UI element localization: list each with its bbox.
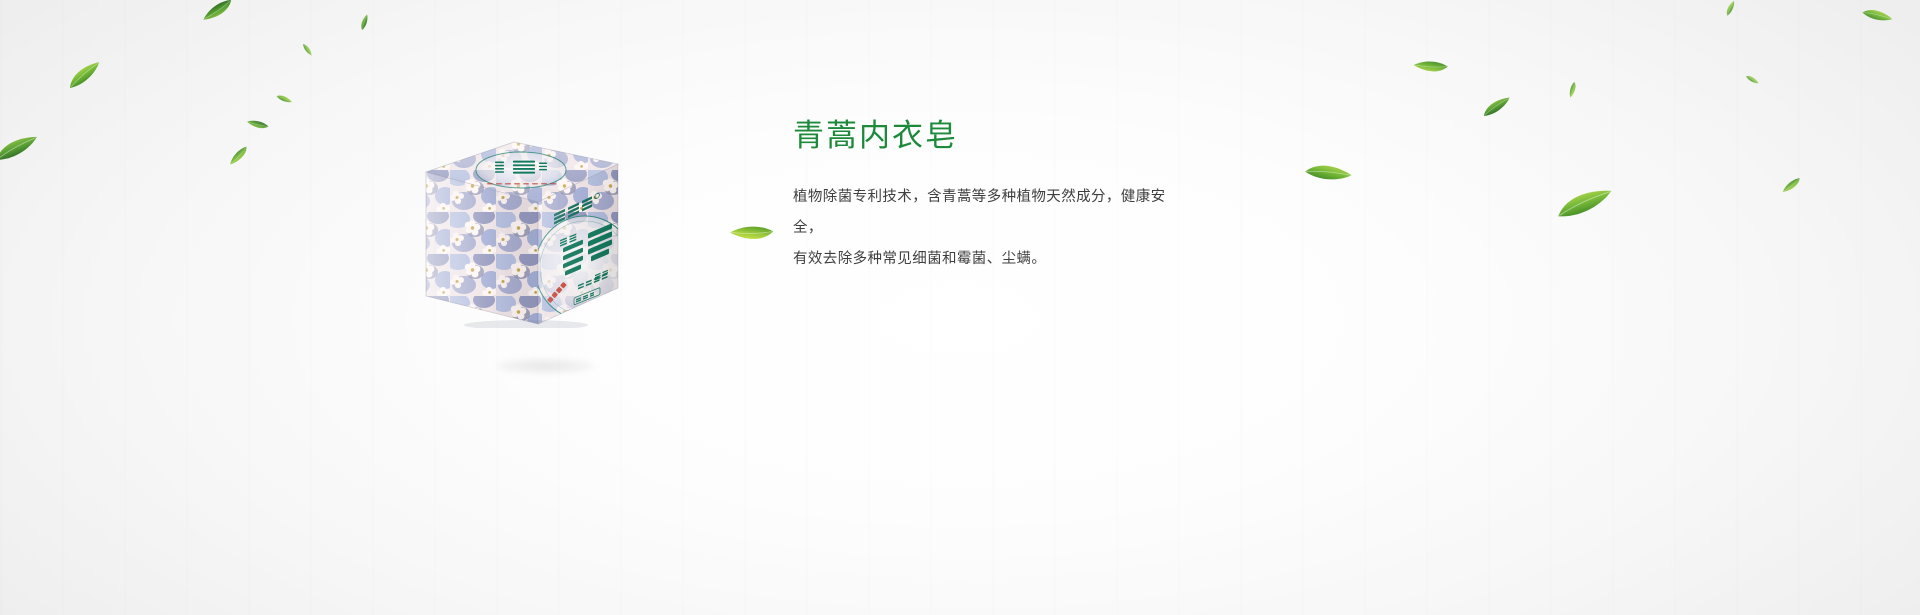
leaf-icon [199, 0, 236, 21]
description-line-1: 植物除菌专利技术，含青蒿等多种植物天然成分，健康安全， [793, 189, 1166, 236]
product-description: 植物除菌专利技术，含青蒿等多种植物天然成分，健康安全， 有效去除多种常见细菌和霉… [793, 182, 1193, 275]
description-line-2: 有效去除多种常见细菌和霉菌、尘螨。 [793, 251, 1046, 267]
leaf-icon [729, 217, 774, 246]
leaf-icon [1555, 189, 1616, 221]
leaf-icon [0, 135, 41, 163]
product-reflection [496, 358, 594, 374]
leaf-icon [1565, 81, 1579, 98]
leaf-icon [225, 145, 251, 166]
leaf-icon [1480, 96, 1514, 118]
leaf-icon [302, 42, 312, 57]
page-title: 青蒿内衣皂 [793, 116, 1433, 156]
leaf-icon [276, 92, 293, 107]
leaf-icon [64, 61, 105, 91]
product-image-soap-box [404, 128, 636, 328]
product-copy-block: 青蒿内衣皂 植物除菌专利技术，含青蒿等多种植物天然成分，健康安全， 有效去除多种… [793, 116, 1433, 275]
leaf-icon [1861, 3, 1893, 29]
leaf-icon [1779, 176, 1803, 193]
floating-leaves-layer [0, 0, 1920, 615]
leaf-icon [358, 14, 373, 31]
product-banner: 青蒿内衣皂 植物除菌专利技术，含青蒿等多种植物天然成分，健康安全， 有效去除多种… [0, 0, 1920, 615]
leaf-icon [1745, 73, 1759, 87]
leaf-icon [246, 114, 270, 133]
leaf-icon [1723, 0, 1739, 17]
leaf-icon [1413, 53, 1450, 78]
